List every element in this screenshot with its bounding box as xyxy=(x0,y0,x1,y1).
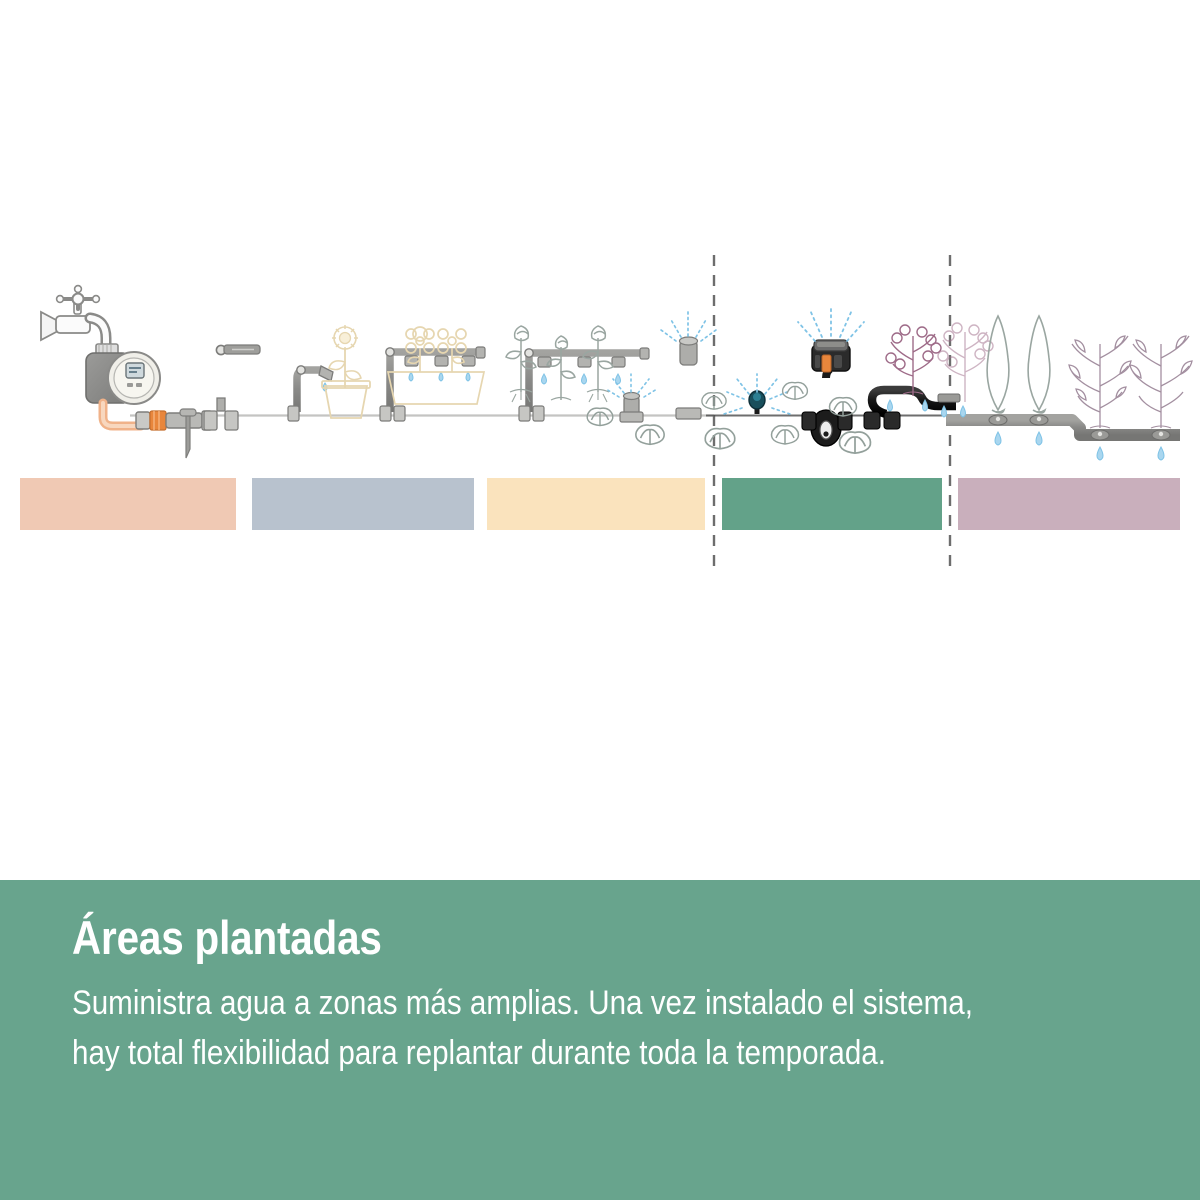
page-root: Áreas plantadas Suministra agua a zonas … xyxy=(0,0,1200,1200)
water-timer xyxy=(86,352,160,404)
micro-sprinkler-riser xyxy=(661,312,716,419)
riser-arm xyxy=(216,345,260,400)
window-box-drippers xyxy=(405,356,475,381)
outdoor-tap xyxy=(41,286,118,355)
rose-bed-drippers xyxy=(538,357,625,384)
cypress-trees xyxy=(987,316,1050,413)
ground-stake xyxy=(180,409,196,458)
spray-pattern-icon xyxy=(661,312,716,341)
irrigation-diagram xyxy=(0,0,1200,880)
micro-sprinkler-highlighted xyxy=(724,374,790,414)
tap-handle-icon xyxy=(57,286,100,309)
zone-bar-planted-areas[interactable] xyxy=(722,478,942,530)
shrub-right xyxy=(1130,336,1192,428)
berry-plant-right xyxy=(938,323,993,402)
zone-bar-beds[interactable] xyxy=(487,478,705,530)
pot-riser xyxy=(288,366,321,421)
zone-bar-pots[interactable] xyxy=(252,478,474,530)
zone-bar-tap-supply[interactable] xyxy=(20,478,236,530)
shrub-left xyxy=(1069,336,1131,428)
pressure-regulator xyxy=(136,411,212,430)
berry-plant-left xyxy=(886,325,941,396)
shrub-plants xyxy=(1069,336,1192,428)
spray-pattern-icon xyxy=(798,306,864,341)
zone-bar-shrubs[interactable] xyxy=(958,478,1180,530)
diagram-canvas xyxy=(0,0,1200,880)
caption-banner: Áreas plantadas Suministra agua a zonas … xyxy=(0,880,1200,1200)
zone-color-bars xyxy=(0,478,1200,536)
right-supply-line xyxy=(946,420,1180,435)
caption-title: Áreas plantadas xyxy=(72,912,989,964)
caption-body: Suministra agua a zonas más amplias. Una… xyxy=(72,978,999,1079)
popup-sprinkler xyxy=(798,306,864,414)
rose-plants xyxy=(506,326,613,402)
